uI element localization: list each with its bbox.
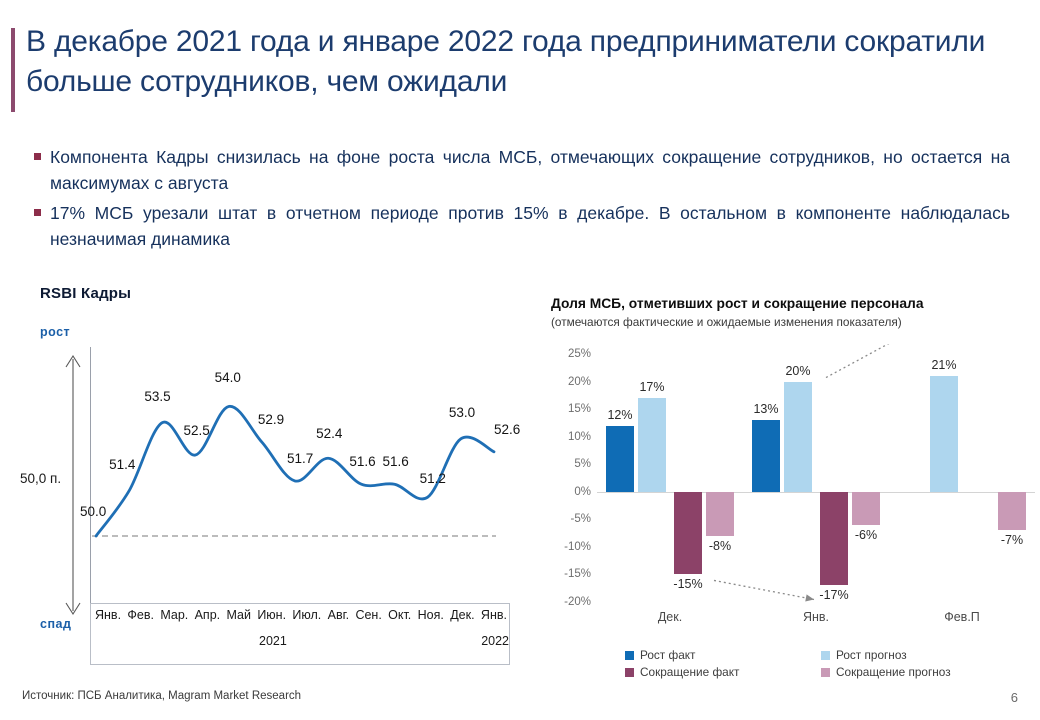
- right-chart-legend: Рост фактРост прогнозСокращение фактСокр…: [625, 648, 1025, 682]
- legend-label: Сокращение прогноз: [836, 665, 951, 679]
- line-point-label: 53.0: [449, 405, 475, 420]
- bar: [784, 382, 812, 492]
- bullet-square-icon: [34, 153, 41, 160]
- axis-label-decline: спад: [40, 617, 71, 631]
- legend-item[interactable]: Сокращение прогноз: [821, 665, 1017, 679]
- bullet-list: Компонента Кадры снизилась на фоне роста…: [30, 144, 1010, 256]
- left-chart-title: RSBI Кадры: [40, 285, 131, 302]
- left-chart-x-axis-box: Янв.Фев.Мар.Апр.МайИюн.Июл.Авг.Сен.Окт.Н…: [90, 603, 510, 665]
- bar-value-label: -15%: [664, 577, 712, 591]
- legend-label: Рост факт: [640, 648, 695, 662]
- y-axis-tick-label: 25%: [568, 348, 591, 360]
- x-axis-month-label: Фев.: [127, 608, 154, 628]
- left-chart-plot-area: 50.051.453.552.554.052.951.752.451.651.6…: [90, 353, 510, 603]
- line-point-label: 51.4: [109, 457, 135, 472]
- bar-value-label: 21%: [920, 358, 968, 372]
- msb-bar-chart: Доля МСБ, отметивших рост и сокращение п…: [545, 296, 1035, 686]
- line-point-label: 54.0: [215, 370, 241, 385]
- bar-value-label: 17%: [628, 380, 676, 394]
- y-axis-tick-label: -5%: [571, 513, 591, 525]
- right-chart-plot-area: 12%17%-15%-8%Дек.13%20%-17%-6%Янв.21%-7%…: [597, 344, 1035, 626]
- x-axis-month-label: Авг.: [328, 608, 349, 628]
- year-label-2021: 2021: [259, 634, 287, 648]
- x-axis-month-label: Янв.: [481, 608, 507, 628]
- x-axis-month-label: Сен.: [355, 608, 381, 628]
- line-point-label: 52.5: [184, 423, 210, 438]
- trend-arrow-up-icon: [826, 344, 922, 378]
- legend-item[interactable]: Рост прогноз: [821, 648, 1017, 662]
- bullet-square-icon: [34, 209, 41, 216]
- line-point-label: 50.0: [80, 504, 106, 519]
- baseline-label: 50,0 п.: [20, 471, 61, 486]
- bar-value-label: 12%: [596, 408, 644, 422]
- bullet-text: Компонента Кадры снизилась на фоне роста…: [50, 144, 1010, 196]
- bar: [638, 398, 666, 492]
- bar-value-label: -17%: [810, 588, 858, 602]
- y-axis-tick-label: 10%: [568, 431, 591, 443]
- legend-row: Рост фактРост прогноз: [625, 648, 1025, 662]
- bar: [752, 420, 780, 492]
- bullet-text: 17% МСБ урезали штат в отчетном периоде …: [50, 200, 1010, 252]
- page-number: 6: [1011, 690, 1018, 705]
- axis-label-growth: рост: [40, 325, 70, 339]
- legend-swatch-icon: [625, 668, 634, 677]
- x-axis-month-label: Ноя.: [418, 608, 444, 628]
- list-item: Компонента Кадры снизилась на фоне роста…: [30, 144, 1010, 196]
- right-chart-subtitle: (отмечаются фактические и ожидаемые изме…: [551, 315, 902, 329]
- bar-value-label: 13%: [742, 402, 790, 416]
- legend-swatch-icon: [625, 651, 634, 660]
- line-point-label: 51.7: [287, 451, 313, 466]
- bar: [998, 492, 1026, 531]
- year-label-2022: 2022: [481, 634, 509, 648]
- legend-swatch-icon: [821, 651, 830, 660]
- x-axis-month-label: Мар.: [160, 608, 188, 628]
- bar: [852, 492, 880, 525]
- bar-value-label: -8%: [696, 539, 744, 553]
- legend-row: Сокращение фактСокращение прогноз: [625, 665, 1025, 679]
- legend-item[interactable]: Рост факт: [625, 648, 821, 662]
- bar-value-label: -6%: [842, 528, 890, 542]
- y-axis-tick-label: -20%: [564, 596, 591, 608]
- line-point-label: 51.6: [349, 454, 375, 469]
- right-chart-y-axis-labels: 25%20%15%10%5%0%-5%-10%-15%-20%: [551, 344, 591, 626]
- line-point-label: 51.6: [383, 454, 409, 469]
- bar-value-label: 20%: [774, 364, 822, 378]
- source-note: Источник: ПСБ Аналитика, Magram Market R…: [22, 690, 301, 702]
- legend-swatch-icon: [821, 668, 830, 677]
- page-title: В декабре 2021 года и январе 2022 года п…: [26, 22, 1016, 102]
- right-chart-plot-wrap: 25%20%15%10%5%0%-5%-10%-15%-20% 12%17%-1…: [551, 344, 1035, 626]
- bar-value-label: -7%: [988, 533, 1036, 547]
- x-axis-month-label: Июл.: [292, 608, 321, 628]
- y-axis-tick-label: 0%: [574, 486, 591, 498]
- line-point-label: 52.4: [316, 426, 342, 441]
- legend-label: Сокращение факт: [640, 665, 739, 679]
- x-axis-category-label: Янв.: [771, 610, 861, 624]
- list-item: 17% МСБ урезали штат в отчетном периоде …: [30, 200, 1010, 252]
- x-axis-category-label: Дек.: [625, 610, 715, 624]
- growth-decline-arrow-icon: [62, 353, 84, 617]
- x-axis-month-label: Окт.: [388, 608, 411, 628]
- right-chart-title: Доля МСБ, отметивших рост и сокращение п…: [551, 296, 924, 311]
- header-accent-bar: [11, 28, 15, 112]
- x-axis-month-label: Апр.: [195, 608, 221, 628]
- bar: [606, 426, 634, 492]
- line-point-label: 52.6: [494, 422, 520, 437]
- bar: [706, 492, 734, 536]
- x-axis-month-label: Май: [226, 608, 251, 628]
- line-point-label: 51.2: [420, 471, 446, 486]
- legend-item[interactable]: Сокращение факт: [625, 665, 821, 679]
- legend-label: Рост прогноз: [836, 648, 907, 662]
- slide-header: В декабре 2021 года и январе 2022 года п…: [0, 22, 1040, 118]
- y-axis-tick-label: -15%: [564, 568, 591, 580]
- left-chart-month-labels: Янв.Фев.Мар.Апр.МайИюн.Июл.Авг.Сен.Окт.Н…: [91, 608, 511, 628]
- y-axis-tick-label: 20%: [568, 376, 591, 388]
- trend-arrow-down-icon: [714, 580, 814, 601]
- bar: [930, 376, 958, 492]
- x-axis-month-label: Июн.: [257, 608, 286, 628]
- y-axis-tick-label: 15%: [568, 403, 591, 415]
- line-point-label: 52.9: [258, 412, 284, 427]
- left-chart-year-labels: 2021 2022: [91, 634, 511, 654]
- bar: [674, 492, 702, 575]
- rsbi-line-chart: RSBI Кадры рост спад 50,0 п. 50.051.453.…: [16, 285, 516, 680]
- y-axis-tick-label: 5%: [574, 458, 591, 470]
- slide: В декабре 2021 года и январе 2022 года п…: [0, 0, 1040, 720]
- zero-axis-line: [597, 492, 1035, 493]
- line-point-label: 53.5: [144, 389, 170, 404]
- y-axis-tick-label: -10%: [564, 541, 591, 553]
- x-axis-month-label: Дек.: [450, 608, 474, 628]
- x-axis-month-label: Янв.: [95, 608, 121, 628]
- x-axis-category-label: Фев.П: [917, 610, 1007, 624]
